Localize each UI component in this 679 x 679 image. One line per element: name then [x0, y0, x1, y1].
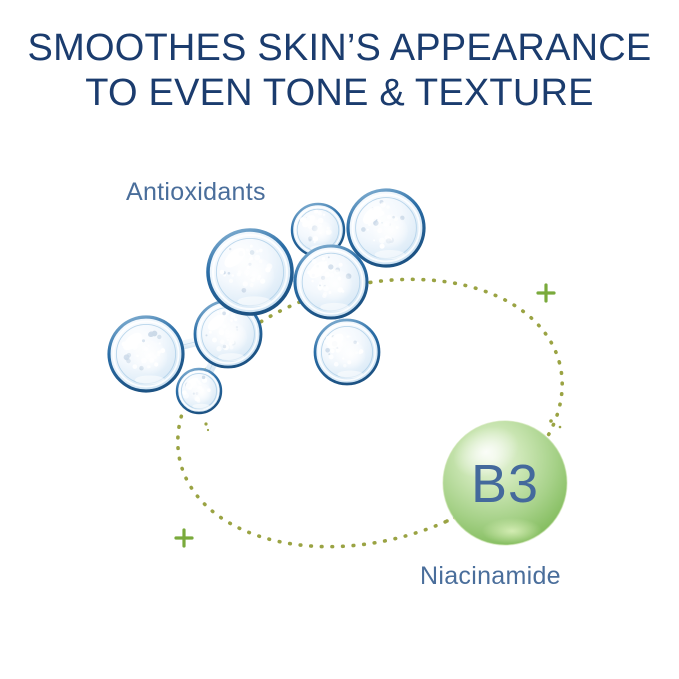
molecule-bubble [208, 230, 292, 314]
molecule-bubble [177, 369, 221, 413]
plus-icon-left [176, 530, 192, 546]
antioxidant-molecule-cluster [109, 190, 424, 413]
illustration-layer: B3 [0, 0, 679, 679]
molecule-bubble [348, 190, 424, 266]
molecule-bubble [109, 317, 183, 391]
molecule-bubble [295, 246, 367, 318]
promo-graphic: SMOOTHES SKIN’S APPEARANCE TO EVEN TONE … [0, 0, 679, 679]
b3-label: B3 [471, 454, 539, 514]
plus-icon-right [538, 285, 554, 301]
molecule-bubble [315, 320, 379, 384]
